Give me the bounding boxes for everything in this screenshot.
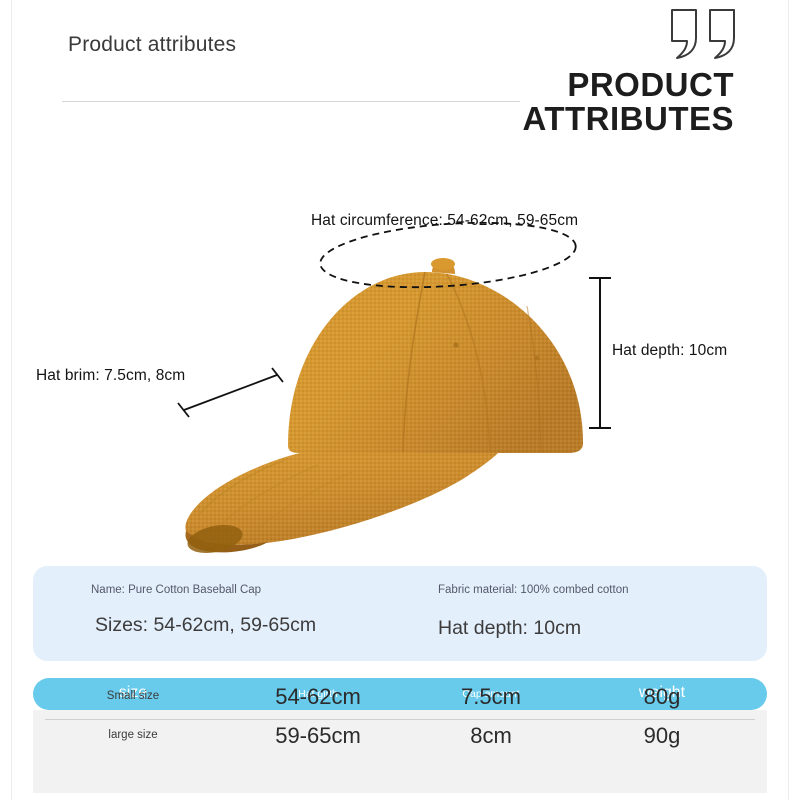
info-product-name: Name: Pure Cotton Baseball Cap	[91, 584, 261, 596]
header-heading-line-1: PRODUCT	[522, 68, 734, 102]
callout-hat-circumference: Hat circumference: 54-62cm, 59-65cm	[311, 212, 578, 230]
header-heading: PRODUCT ATTRIBUTES	[522, 68, 734, 136]
table-row: 90g	[644, 723, 681, 749]
page-title: Product attributes	[68, 33, 236, 57]
info-sizes: Sizes: 54-62cm, 59-65cm	[95, 614, 316, 637]
callout-hat-brim: Hat brim: 7.5cm, 8cm	[36, 367, 185, 385]
callout-hat-depth: Hat depth: 10cm	[612, 342, 727, 360]
table-row: 80g	[644, 684, 681, 710]
info-hat-depth: Hat depth: 10cm	[438, 617, 581, 640]
header: Product attributes PRODUCT ATTRIBUTES	[0, 0, 800, 160]
quote-marks-icon	[668, 8, 744, 60]
header-divider	[62, 101, 520, 102]
info-fabric-material: Fabric material: 100% combed cotton	[438, 584, 628, 596]
table-row-divider	[45, 719, 755, 720]
table-row: 8cm	[470, 723, 512, 749]
table-row: 7.5cm	[461, 684, 521, 710]
table-row: large size	[108, 729, 157, 741]
header-heading-line-2: ATTRIBUTES	[522, 102, 734, 136]
info-panel: Name: Pure Cotton Baseball Cap Fabric ma…	[33, 566, 767, 661]
table-row: 54-62cm	[275, 684, 361, 710]
product-diagram: Hat circumference: 54-62cm, 59-65cm Hat …	[0, 160, 800, 555]
depth-measure-line	[589, 278, 611, 428]
spec-table: size Hat girth Cap amount weight Small s…	[33, 678, 767, 793]
table-row: Small size	[107, 690, 159, 702]
product-attributes-sheet: Product attributes PRODUCT ATTRIBUTES	[0, 0, 800, 800]
brim-measure-line	[178, 368, 283, 417]
table-row: 59-65cm	[275, 723, 361, 749]
